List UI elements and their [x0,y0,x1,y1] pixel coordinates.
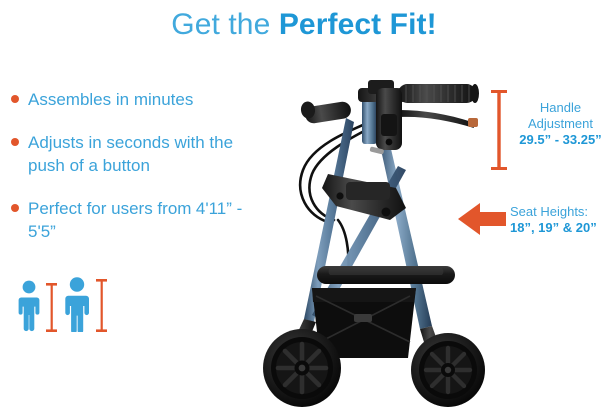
seat-heights-annotation: Seat Heights: 18”, 19” & 20” [458,198,608,246]
padded-seat [317,266,455,284]
list-item-label: Adjusts in seconds with the push of a bu… [28,133,233,175]
list-item-label: Perfect for users from [28,199,191,218]
bullet-dot-icon [11,204,19,212]
handle-label-line1: Handle [513,100,608,116]
feature-list: Assembles in minutes Adjusts in seconds … [8,88,258,263]
handle-measurement-value: 29.5” - 33.25” [513,132,608,148]
bullet-dot-icon [11,138,19,146]
tall-person-icon [65,277,89,332]
rear-handle-grip [300,101,352,125]
infographic-page: Get the Perfect Fit! Assembles in minute… [0,0,608,407]
list-item-label: Assembles in minutes [28,90,193,109]
seat-heights-labels: Seat Heights: 18”, 19” & 20” [510,204,608,236]
handle-measure-bar-icon [489,90,509,170]
height-adjust-clamp [376,88,402,150]
handle-label-line2: Adjustment [513,116,608,132]
user-height-illustration [14,276,134,332]
list-item: Adjusts in seconds with the push of a bu… [8,131,258,177]
page-title-light: Get the [171,8,279,41]
list-item: Perfect for users from 4'11” - 5'5” [8,197,258,243]
seat-measurement-value: 18”, 19” & 20” [510,220,608,236]
short-height-measure-bar [46,283,57,332]
brake-lever [400,110,478,128]
front-wheel [263,329,341,407]
bullet-dot-icon [11,95,19,103]
page-title: Get the Perfect Fit! [0,6,608,44]
left-arrow-icon [458,200,506,238]
handle-adjustment-annotation: Handle Adjustment 29.5” - 33.25” [489,90,608,170]
list-item: Assembles in minutes [8,88,258,111]
tall-height-measure-bar [96,279,107,332]
page-title-bold: Perfect Fit! [279,8,437,41]
rear-wheel [411,333,485,407]
short-person-icon [19,281,40,332]
handle-grip [398,84,479,103]
seat-label-line1: Seat Heights: [510,204,608,220]
handle-adjustment-labels: Handle Adjustment 29.5” - 33.25” [513,100,608,148]
